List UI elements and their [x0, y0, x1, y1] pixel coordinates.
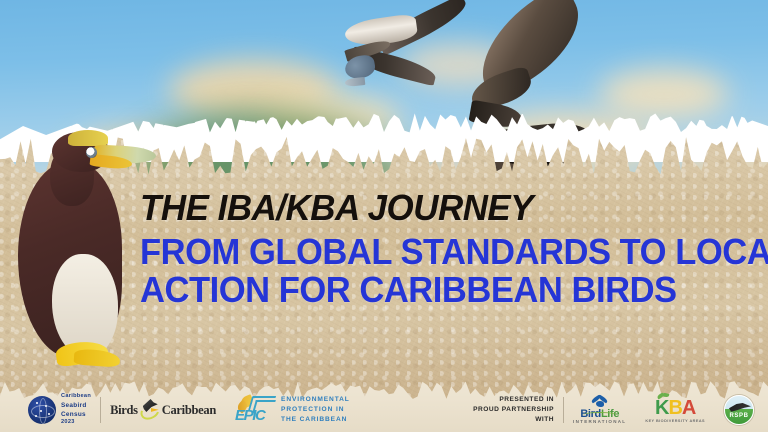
divider [563, 397, 564, 423]
epic-line-1: ENVIRONMENTAL [281, 396, 350, 403]
logo-epic[interactable]: EPIC ENVIRONMENTAL PROTECTION IN THE CAR… [235, 395, 350, 425]
kba-letter-a: A [682, 398, 695, 418]
logo-birdlife-international[interactable]: BirdLife INTERNATIONAL [573, 397, 626, 424]
logo-kba[interactable]: K B A KEY BIODIVERSITY AREAS [645, 398, 705, 423]
title-line-2: FROM GLOBAL STANDARDS TO LOCAL [140, 235, 716, 270]
csc-line-2: Seabird [61, 401, 91, 410]
csc-wordmark: Caribbean Seabird Census 2023 [61, 393, 91, 427]
flying-bird-icon [591, 397, 608, 408]
bird-icon [139, 399, 161, 421]
kba-subtitle: KEY BIODIVERSITY AREAS [645, 419, 705, 423]
epic-line-3: THE CARIBBEAN [281, 416, 347, 423]
csc-line-4: 2023 [61, 419, 75, 425]
eye [86, 147, 97, 158]
birds-caribbean-word-2: Caribbean [162, 403, 216, 418]
arc-decoration [583, 412, 617, 418]
sprout-icon [657, 393, 669, 400]
kba-wordmark: K B A [655, 398, 695, 418]
epic-tagline: ENVIRONMENTAL PROTECTION IN THE CARIBBEA… [281, 395, 350, 425]
presented-line-2: PROUD PARTNERSHIP [473, 406, 554, 413]
kba-letter-k: K [655, 398, 668, 418]
logo-rspb[interactable]: RSPB [724, 395, 754, 425]
footer-content: Caribbean Seabird Census 2023 Birds Cari… [0, 388, 768, 432]
presented-line-3: WITH [535, 416, 554, 423]
birds-caribbean-word-1: Birds [110, 403, 138, 418]
avocet-icon [729, 403, 751, 413]
presented-in-partnership-text: PRESENTED IN PROUD PARTNERSHIP WITH [473, 395, 554, 426]
foot [73, 348, 120, 367]
title-line-3: ACTION FOR CARIBBEAN BIRDS [140, 273, 716, 308]
partner-logos-left: Caribbean Seabird Census 2023 Birds Cari… [0, 393, 350, 427]
beak [345, 77, 366, 87]
kba-letter-b: B [668, 398, 681, 418]
logo-birds-caribbean[interactable]: Birds Caribbean [110, 399, 216, 421]
globe-icon [28, 396, 56, 424]
partner-logos-right: PRESENTED IN PROUD PARTNERSHIP WITH Bird… [473, 395, 768, 426]
title-line-1: THE IBA/KBA JOURNEY [140, 191, 722, 226]
crown [68, 130, 108, 146]
logo-caribbean-seabird-census[interactable]: Caribbean Seabird Census 2023 [28, 393, 91, 427]
epic-line-2: PROTECTION IN [281, 406, 344, 413]
title-block: THE IBA/KBA JOURNEY FROM GLOBAL STANDARD… [140, 191, 740, 308]
csc-line-3: Census [61, 410, 91, 419]
epic-wordmark: EPIC [235, 407, 264, 424]
brown-booby-flying [345, 18, 475, 98]
rspb-wordmark: RSPB [725, 413, 753, 419]
epic-icon: EPIC [235, 396, 275, 424]
csc-line-1: Caribbean [61, 393, 91, 399]
divider [100, 397, 101, 423]
poster-canvas: THE IBA/KBA JOURNEY FROM GLOBAL STANDARD… [0, 0, 768, 432]
birdlife-subtitle: INTERNATIONAL [573, 419, 626, 424]
presented-line-1: PRESENTED IN [499, 396, 554, 403]
